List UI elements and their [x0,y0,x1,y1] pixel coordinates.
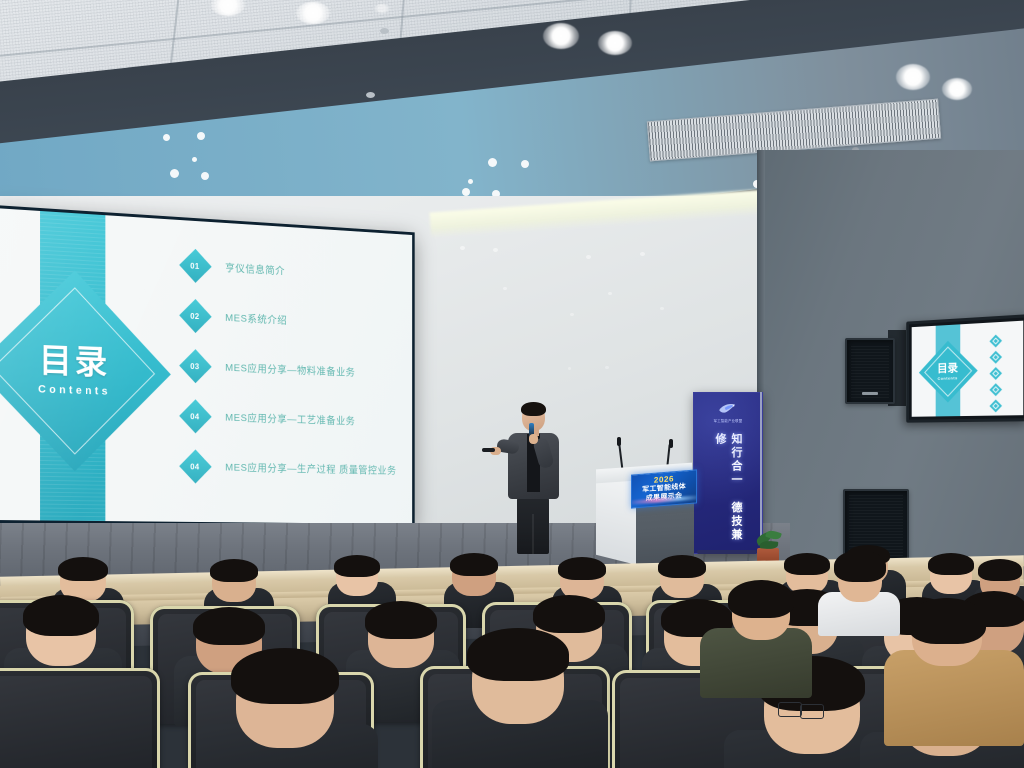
slide-toc-row: 01亨仪信息简介 [184,253,405,288]
conference-hall-scene: 目录 Contents 01亨仪信息简介02MES系统介绍03MES应用分享—物… [0,0,1024,768]
eyeglasses-icon [800,704,824,719]
slide-toc-row: 04MES应用分享—生产过程 质量管控业务 [184,454,405,481]
toc-number-diamond: 02 [179,298,211,332]
audience-hair [558,557,606,580]
audience-hair [231,648,339,704]
microphone-head [669,439,673,448]
monitor-title-diamond: 目录 Contents [919,341,978,403]
ceiling-reflection [503,287,507,290]
audience-hair [365,601,437,639]
banner-slogan: 知行合一 德技兼修 [712,433,744,545]
audience-hair [978,559,1022,581]
toc-number-diamond: 03 [179,349,211,383]
slide-toc-row: 02MES系统介绍 [184,303,405,336]
presentation-slide: 目录 Contents 01亨仪信息简介02MES系统介绍03MES应用分享—物… [0,208,412,524]
downlight-icon [462,188,470,196]
banner-pole [760,392,762,552]
monitor-bullet-diamond [989,367,1002,380]
toc-number: 01 [191,260,200,270]
eyeglasses-icon [778,702,802,717]
monitor-bullet-diamond [989,335,1002,348]
audience-hair [23,595,99,636]
toc-number: 04 [191,461,200,471]
audience-hair [58,557,108,581]
podium-sign-line2: 成果展示会 [646,492,683,504]
monitor-title-group: 目录 Contents [938,363,959,381]
toc-label: MES系统介绍 [225,310,287,327]
monitor-bullet-group [912,321,1024,328]
monitor-title-cn: 目录 [938,363,959,375]
rollup-banner: 军工智能产业联盟 知行合一 德技兼修 [693,392,763,554]
microphone-head [617,437,621,446]
slide-toc-list: 01亨仪信息简介02MES系统介绍03MES应用分享—物料准备业务04MES应用… [184,253,405,507]
downlight-icon [521,160,529,168]
audience-hair [210,559,258,582]
downlight-icon [201,172,209,180]
monitor-bullet-diamond [989,351,1002,364]
monitor-bullet-diamond [989,383,1002,396]
toc-number-diamond: 04 [179,399,211,433]
ceiling-reflection [460,246,465,250]
presenter-hair [521,402,546,416]
downlight-icon [896,64,930,90]
audience-hair [834,550,886,582]
banner-org-text: 军工智能产业联盟 [714,418,743,423]
ceiling-reflection [640,252,645,256]
wall-speaker-icon [845,338,895,404]
audience-hair [450,553,498,576]
slide-title-group: 目录 Contents [38,344,111,398]
toc-number-diamond: 01 [179,248,211,282]
slide-toc-row: 03MES应用分享—物料准备业务 [184,354,405,385]
chair-back-cushion [0,676,152,768]
toc-label: MES应用分享—生产过程 质量管控业务 [225,459,396,477]
audience-hair [334,555,380,577]
presenter-leg-gap [532,514,534,554]
downlight-icon [192,157,197,162]
downlight-icon [197,132,205,140]
downlight-icon [374,4,390,13]
audience-hair [467,628,569,681]
smoke-detector-icon [366,92,375,98]
toc-label: MES应用分享—工艺准备业务 [225,410,355,428]
downlight-icon [296,2,330,24]
toc-label: 亨仪信息简介 [225,260,285,278]
audience-hair [728,580,794,618]
monitor-title-en: Contents [938,376,959,381]
audience-hair [928,553,974,575]
downlight-icon [488,158,497,167]
downlight-icon [543,23,579,49]
slide-toc-row: 04MES应用分享—工艺准备业务 [184,404,405,433]
monitor-bullet-diamond [989,399,1002,412]
audience-hair [658,555,706,578]
toc-number: 02 [191,310,200,320]
chair [0,668,160,768]
monitor-slide-mirror: 目录 Contents [912,321,1024,417]
downlight-icon [942,78,972,100]
toc-label: MES应用分享—物料准备业务 [225,360,355,379]
presenter-right-hand [529,434,538,444]
downlight-icon [163,134,170,141]
smoke-detector-icon [380,28,389,34]
toc-number: 04 [191,411,200,421]
toc-number-diamond: 04 [179,449,211,483]
audience-hair [533,595,605,633]
side-monitor: 目录 Contents [906,314,1024,423]
downlight-icon [468,179,473,184]
podium-led-sign: 2026 军工智能线体 成果展示会 [631,469,697,508]
downlight-icon [598,31,632,55]
ceiling-reflection [568,367,571,370]
ceiling-reflection [660,307,664,310]
slide-title-diamond: 目录 Contents [0,271,171,472]
slide-title-cn: 目录 [38,344,111,380]
audience-hair [908,598,986,644]
toc-number: 03 [191,361,200,371]
audience-hair [784,553,830,575]
ceiling-reflection [586,255,591,259]
ceiling-reflection [605,366,609,369]
ceiling-reflection [608,292,612,295]
ceiling-reflection [570,313,574,316]
downlight-icon [170,169,179,178]
projection-screen: 目录 Contents 01亨仪信息简介02MES系统介绍03MES应用分享—物… [0,205,415,527]
speaker-grille [851,344,889,398]
presenter [498,404,568,554]
audience-hair [193,607,265,645]
banner-base [697,550,757,554]
eagle-logo-icon [717,401,739,417]
ceiling-reflection [493,248,498,252]
presentation-clicker [482,448,495,452]
